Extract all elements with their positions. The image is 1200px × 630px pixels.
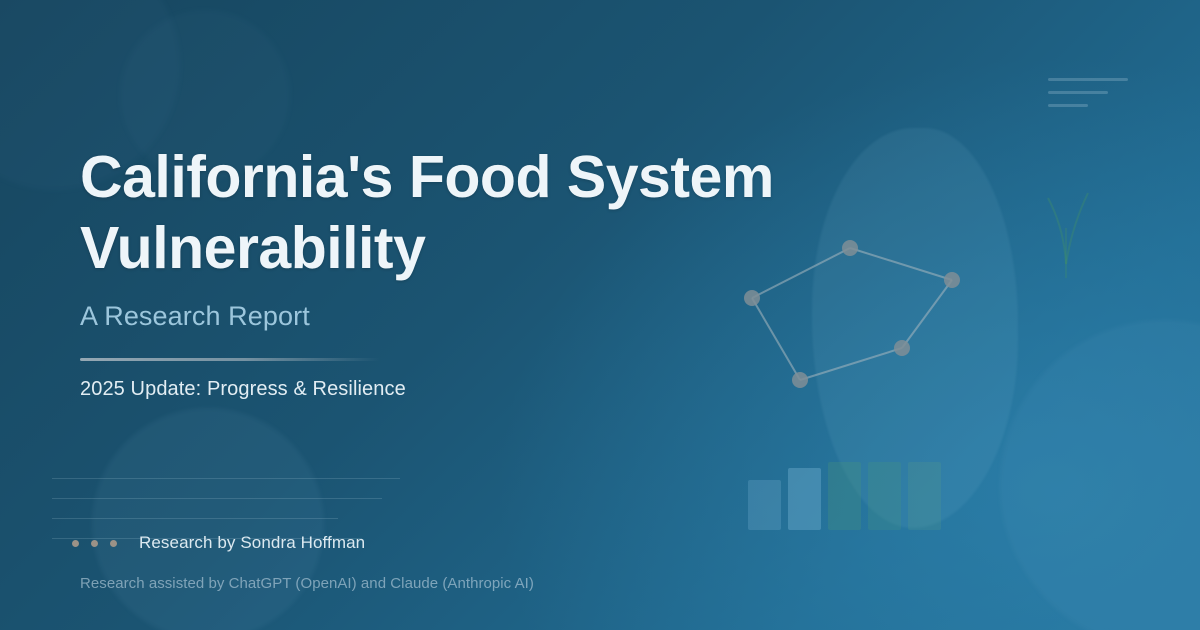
byline-text: Research by Sondra Hoffman bbox=[139, 533, 365, 553]
bar bbox=[828, 462, 861, 530]
bar bbox=[868, 462, 901, 530]
title-divider bbox=[80, 358, 380, 361]
rule-line-3 bbox=[52, 518, 338, 519]
title-slide: California's Food System Vulnerability A… bbox=[0, 0, 1200, 630]
dot-group-icon bbox=[72, 540, 117, 547]
background-blob-right-low bbox=[1000, 320, 1200, 630]
dot-icon bbox=[110, 540, 117, 547]
network-edge bbox=[800, 348, 902, 380]
bar bbox=[908, 462, 941, 530]
assistance-note: Research assisted by ChatGPT (OpenAI) an… bbox=[80, 575, 534, 592]
bar-chart-icon bbox=[748, 462, 941, 530]
network-node bbox=[792, 372, 808, 388]
rule-line-1 bbox=[52, 478, 400, 479]
byline: Research by Sondra Hoffman bbox=[72, 533, 365, 553]
network-node bbox=[894, 340, 910, 356]
stacked-line-3 bbox=[1048, 104, 1088, 107]
page-tagline: 2025 Update: Progress & Resilience bbox=[80, 378, 406, 401]
network-node bbox=[944, 272, 960, 288]
dot-icon bbox=[72, 540, 79, 547]
dot-icon bbox=[91, 540, 98, 547]
network-node bbox=[744, 290, 760, 306]
bar bbox=[788, 468, 821, 530]
faint-rule-lines bbox=[52, 478, 400, 539]
sprout-icon bbox=[1008, 168, 1128, 298]
page-subtitle: A Research Report bbox=[80, 301, 310, 332]
page-title: California's Food System Vulnerability bbox=[80, 142, 870, 284]
stacked-line-1 bbox=[1048, 78, 1128, 81]
stacked-lines-icon bbox=[1048, 78, 1128, 107]
stacked-line-2 bbox=[1048, 91, 1108, 94]
bar bbox=[748, 480, 781, 530]
rule-line-2 bbox=[52, 498, 382, 499]
network-edge bbox=[902, 280, 952, 348]
network-edge bbox=[752, 298, 800, 380]
